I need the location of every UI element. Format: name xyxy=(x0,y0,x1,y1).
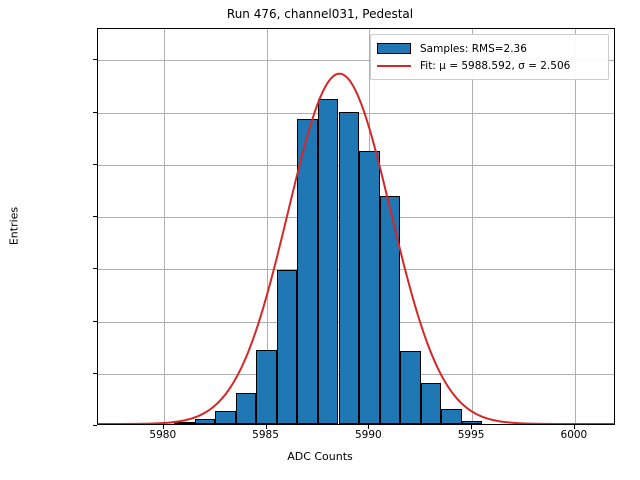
legend-label-samples: Samples: RMS=2.36 xyxy=(420,43,527,55)
histogram-bar xyxy=(441,409,462,424)
x-tick-mark xyxy=(471,425,472,429)
y-axis-label: Entries xyxy=(8,207,21,245)
histogram-bar xyxy=(297,119,318,424)
chart-legend: Samples: RMS=2.36 Fit: μ = 5988.592, σ =… xyxy=(370,34,609,80)
y-tick-mark xyxy=(93,268,97,269)
histogram-bar xyxy=(236,393,257,424)
y-tick-mark xyxy=(93,425,97,426)
legend-item-fit: Fit: μ = 5988.592, σ = 2.506 xyxy=(377,57,602,74)
histogram-bar xyxy=(400,351,421,424)
y-tick-mark xyxy=(93,373,97,374)
gridline-vertical xyxy=(575,29,576,424)
gridline-vertical xyxy=(164,29,165,424)
x-axis-label: ADC Counts xyxy=(0,450,640,463)
y-tick-mark xyxy=(93,112,97,113)
y-tick-mark xyxy=(93,164,97,165)
histogram-bar xyxy=(277,270,298,424)
legend-patch-icon xyxy=(377,43,411,54)
figure-canvas: Run 476, channel031, Pedestal Entries AD… xyxy=(0,0,640,480)
histogram-bar xyxy=(215,411,236,424)
histogram-bar xyxy=(339,112,360,424)
histogram-bar xyxy=(359,151,380,424)
chart-title: Run 476, channel031, Pedestal xyxy=(0,7,640,21)
x-tick-mark xyxy=(574,425,575,429)
x-tick-label: 5995 xyxy=(458,429,485,441)
legend-item-samples: Samples: RMS=2.36 xyxy=(377,40,602,57)
gridline-vertical xyxy=(472,29,473,424)
histogram-bar xyxy=(195,419,216,424)
x-tick-label: 6000 xyxy=(561,429,588,441)
x-tick-mark xyxy=(368,425,369,429)
legend-label-fit: Fit: μ = 5988.592, σ = 2.506 xyxy=(420,60,570,72)
histogram-bar xyxy=(174,422,195,425)
histogram-bar xyxy=(256,350,277,424)
x-tick-label: 5980 xyxy=(149,429,176,441)
legend-line-icon xyxy=(377,65,411,67)
x-tick-label: 5990 xyxy=(355,429,382,441)
plot-area xyxy=(97,28,615,425)
y-tick-mark xyxy=(93,216,97,217)
y-tick-mark xyxy=(93,321,97,322)
histogram-bar xyxy=(421,383,442,424)
x-tick-mark xyxy=(163,425,164,429)
x-tick-mark xyxy=(266,425,267,429)
histogram-bar xyxy=(380,196,401,424)
y-tick-mark xyxy=(93,59,97,60)
histogram-bar xyxy=(462,421,483,424)
x-tick-label: 5985 xyxy=(252,429,279,441)
histogram-bar xyxy=(318,99,339,424)
